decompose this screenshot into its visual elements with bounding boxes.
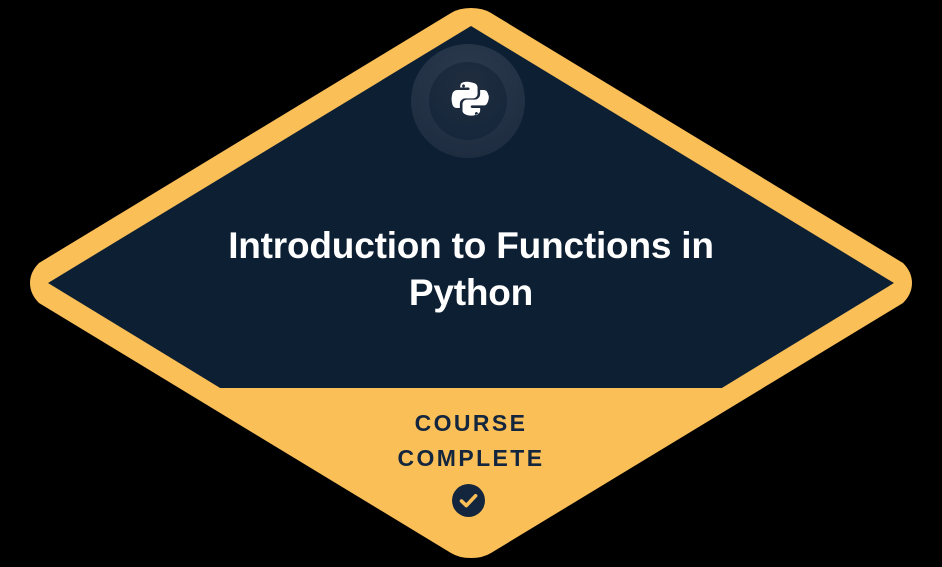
course-title: Introduction to Functions in Python [171, 222, 771, 316]
badge-canvas: Introduction to Functions in Python COUR… [0, 0, 942, 567]
status-label-course: COURSE [171, 406, 771, 441]
check-circle-icon [452, 484, 485, 517]
course-status-block: COURSE COMPLETE [171, 406, 771, 476]
status-label-complete: COMPLETE [171, 441, 771, 476]
